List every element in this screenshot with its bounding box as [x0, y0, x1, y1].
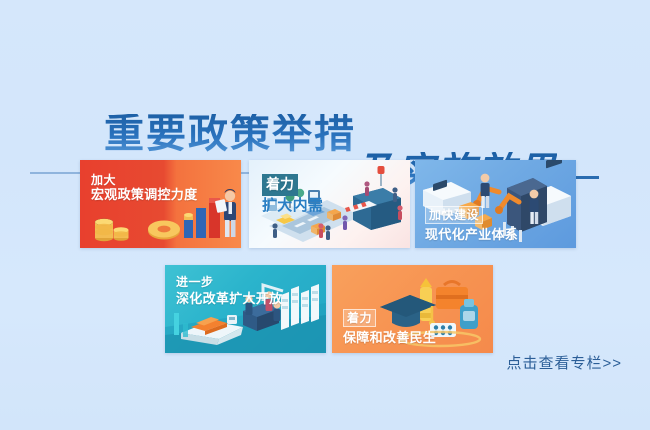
page-title-line1: 重要政策举措 [104, 114, 356, 154]
card-label-line2: 现代化产业体系 [425, 227, 518, 242]
card-label: 加快建设 现代化产业体系 [425, 206, 518, 242]
policy-card-peoples-livelihood[interactable]: 着力 保障和改善民生 [332, 265, 493, 353]
policy-measures-banner: 重要政策举措 及实施效果 [0, 0, 650, 430]
card-label-line1: 着力 [262, 174, 323, 196]
card-label-line1: 着力 [343, 309, 436, 327]
card-label: 着力 保障和改善民生 [343, 309, 436, 345]
card-label-line1: 加大 [91, 173, 197, 187]
policy-card-modern-industry[interactable]: 加快建设 现代化产业体系 [415, 160, 576, 248]
card-label: 进一步 深化改革扩大开放 [176, 275, 282, 306]
card-label-line1: 加快建设 [425, 206, 518, 224]
card-label-line2: 深化改革扩大开放 [176, 291, 282, 306]
card-label: 加大 宏观政策调控力度 [91, 173, 197, 202]
card-label: 着力 扩大内需 [262, 174, 323, 214]
policy-card-expand-demand[interactable]: 着力 扩大内需 [249, 160, 410, 248]
card-label-line2: 扩大内需 [262, 197, 323, 215]
card-label-line2: 宏观政策调控力度 [91, 187, 197, 202]
card-label-line1: 进一步 [176, 275, 282, 289]
policy-card-macro-control[interactable]: 加大 宏观政策调控力度 [80, 160, 241, 248]
view-column-link[interactable]: 点击查看专栏>> [506, 352, 622, 373]
card-label-line2: 保障和改善民生 [343, 330, 436, 345]
policy-card-reform-opening[interactable]: 进一步 深化改革扩大开放 [165, 265, 326, 353]
banner-title-block: 重要政策举措 及实施效果 [0, 56, 650, 148]
